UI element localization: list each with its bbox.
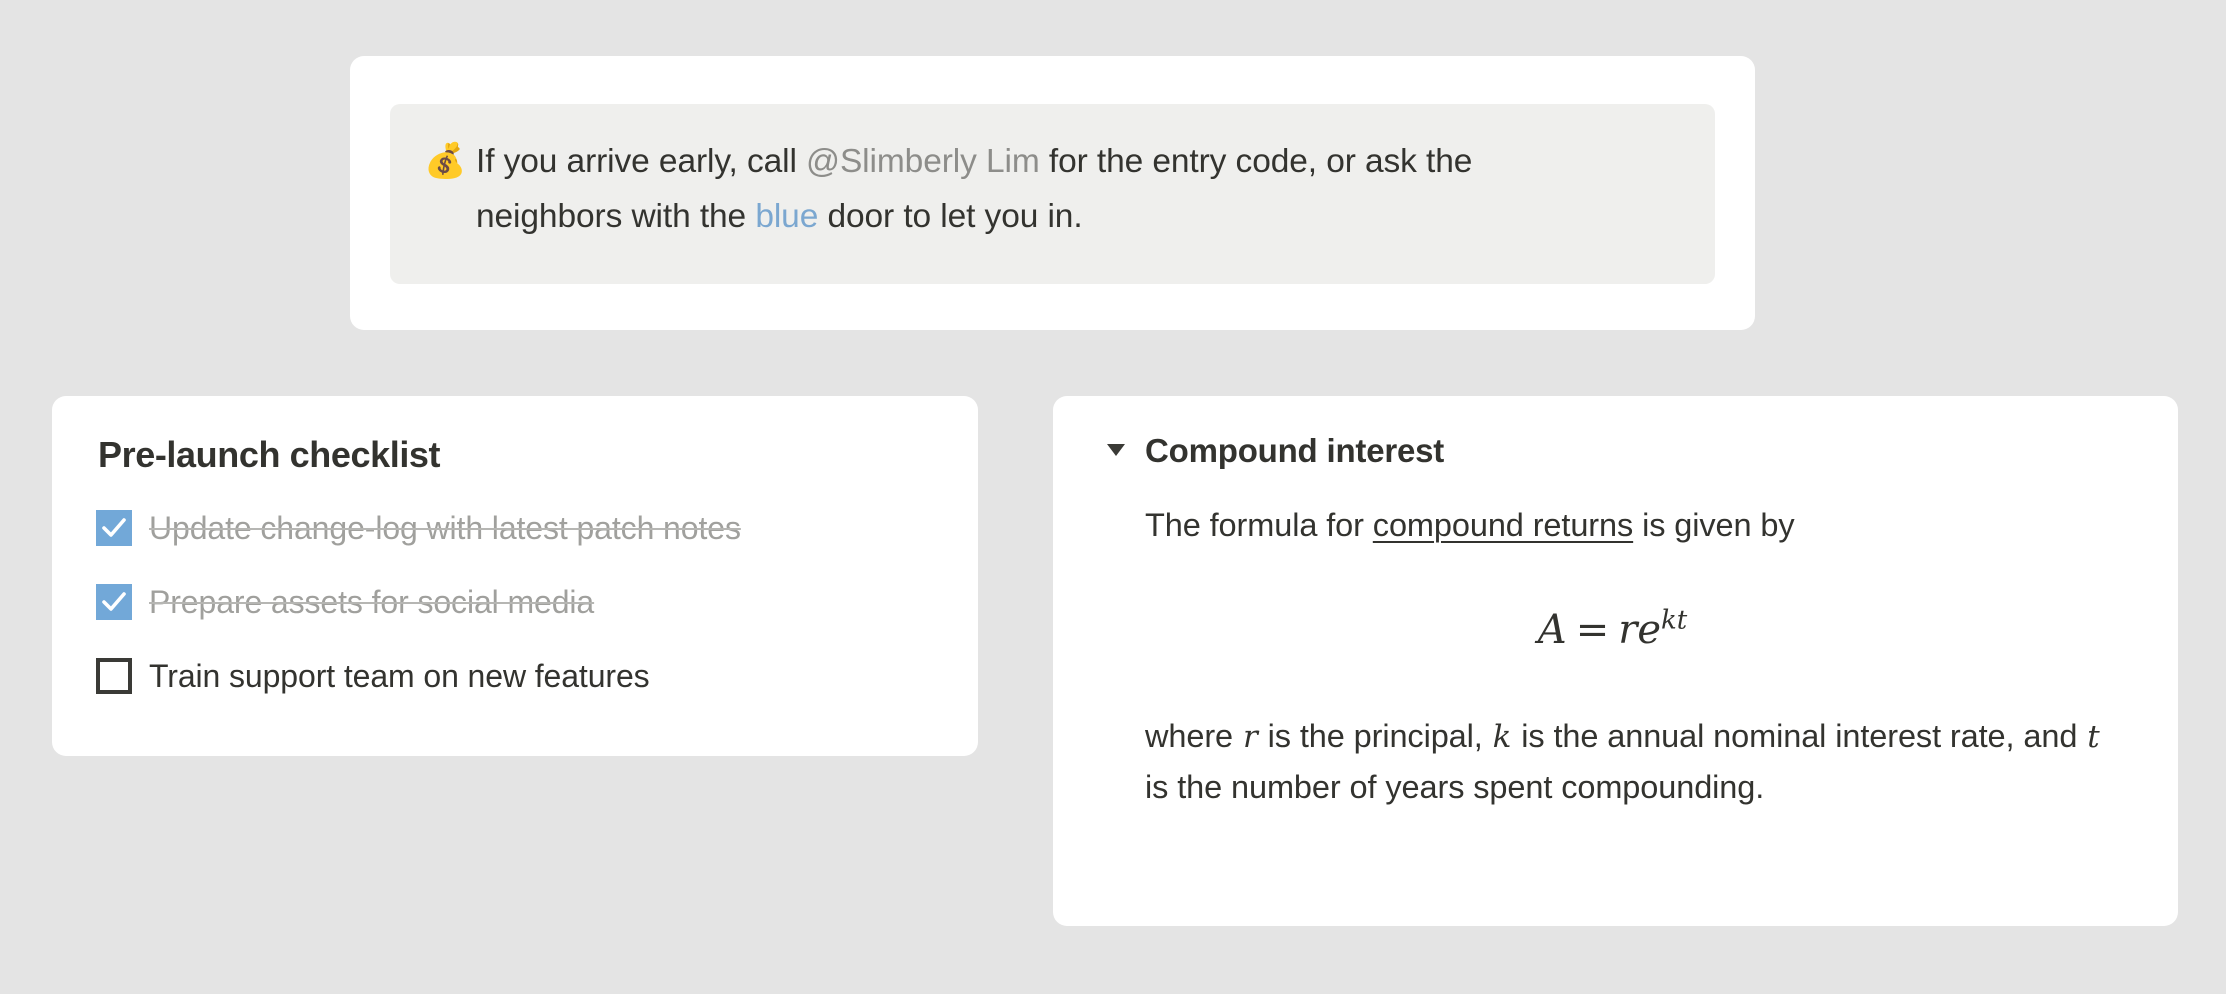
explanation-seg2: is the principal,: [1259, 718, 1492, 754]
callout-text-part-3: door to let you in.: [818, 198, 1082, 235]
checklist-item[interactable]: Update change-log with latest patch note…: [96, 502, 934, 554]
formula-equation: A=rekt: [1538, 607, 1687, 653]
formula-operator: =: [1567, 607, 1619, 653]
explanation-seg1: where: [1145, 718, 1242, 754]
callout-box: 💰 If you arrive early, call @Slimberly L…: [390, 104, 1715, 284]
math-variable-t: t: [2086, 719, 2100, 755]
formula-lhs: A: [1538, 607, 1567, 653]
callout-text: If you arrive early, call @Slimberly Lim…: [476, 134, 1606, 244]
math-variable-r: r: [1242, 719, 1259, 755]
formula-intro: The formula for compound returns is give…: [1145, 500, 2128, 550]
details-summary[interactable]: Compound interest: [1103, 432, 2128, 470]
details-title: Compound interest: [1145, 432, 1444, 470]
formula-intro-after: is given by: [1633, 507, 1794, 543]
checklist-item-label: Update change-log with latest patch note…: [149, 508, 741, 548]
explanation-seg4: is the number of years spent compounding…: [1145, 769, 1764, 805]
callout-text-part-1: If you arrive early, call: [476, 143, 806, 180]
checklist-item[interactable]: Prepare assets for social media: [96, 576, 934, 628]
formula-intro-before: The formula for: [1145, 507, 1373, 543]
checklist-item-label: Prepare assets for social media: [149, 582, 594, 622]
details-body: The formula for compound returns is give…: [1103, 500, 2128, 812]
formula-block: A=rekt: [1145, 606, 2128, 653]
explanation-seg3: is the annual nominal interest rate, and: [1512, 718, 2086, 754]
checklist-title: Pre-launch checklist: [98, 434, 934, 476]
checklist-card: Pre-launch checklist Update change-log w…: [52, 396, 978, 756]
formula-exponent: kt: [1661, 606, 1687, 636]
math-variable-k: k: [1492, 719, 1513, 755]
highlighted-word[interactable]: blue: [755, 198, 818, 235]
user-mention[interactable]: @Slimberly Lim: [806, 143, 1040, 180]
callout-card: 💰 If you arrive early, call @Slimberly L…: [350, 56, 1755, 330]
checkbox-checked-icon[interactable]: [96, 584, 132, 620]
formula-explanation: where r is the principal, k is the annua…: [1145, 711, 2128, 812]
money-bag-icon: 💰: [424, 134, 476, 189]
checklist-item[interactable]: Train support team on new features: [96, 650, 934, 702]
checklist-item-label: Train support team on new features: [149, 656, 650, 696]
checkbox-checked-icon[interactable]: [96, 510, 132, 546]
compound-returns-link[interactable]: compound returns: [1373, 507, 1633, 543]
checkbox-unchecked-icon[interactable]: [96, 658, 132, 694]
details-card: Compound interest The formula for compou…: [1053, 396, 2178, 926]
chevron-down-icon[interactable]: [1103, 436, 1129, 467]
formula-base: re: [1618, 607, 1661, 653]
